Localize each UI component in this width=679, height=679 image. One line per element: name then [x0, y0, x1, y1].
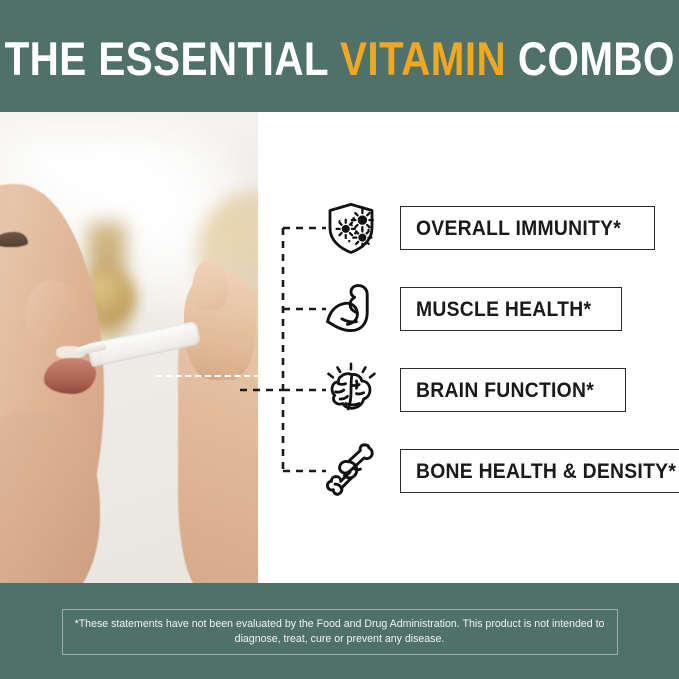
benefit-row-bone-health-density[interactable]: BONE HEALTH & DENSITY* — [320, 439, 679, 503]
footer-banner: *These statements have not been evaluate… — [0, 583, 679, 679]
benefit-label-muscle-health: MUSCLE HEALTH* — [416, 299, 591, 320]
benefit-label-bone-health-density: BONE HEALTH & DENSITY* — [416, 461, 676, 482]
benefit-label-overall-immunity: OVERALL IMMUNITY* — [416, 218, 621, 239]
flexed-bicep-icon — [320, 278, 382, 340]
title-part-1: THE ESSENTIAL — [4, 32, 339, 85]
benefit-row-overall-immunity[interactable]: OVERALL IMMUNITY* — [320, 196, 655, 260]
benefit-label-box-muscle-health: MUSCLE HEALTH* — [400, 287, 622, 331]
page-title: THE ESSENTIAL VITAMIN COMBO — [4, 35, 674, 82]
benefit-row-muscle-health[interactable]: MUSCLE HEALTH* — [320, 277, 622, 341]
disclaimer-text: *These statements have not been evaluate… — [75, 617, 605, 648]
benefit-row-brain-function[interactable]: BRAIN FUNCTION* — [320, 358, 626, 422]
title-accent-vitamin: VITAMIN — [340, 32, 506, 85]
benefit-label-box-brain-function: BRAIN FUNCTION* — [400, 368, 626, 412]
infographic-root: THE ESSENTIAL VITAMIN COMBO — [0, 0, 679, 679]
title-part-2: COMBO — [506, 32, 675, 85]
header-banner: THE ESSENTIAL VITAMIN COMBO — [0, 0, 679, 112]
benefits-list: OVERALL IMMUNITY* MUSCLE HEALTH* — [0, 112, 679, 583]
bone-joint-icon — [320, 440, 382, 502]
benefit-label-brain-function: BRAIN FUNCTION* — [416, 380, 594, 401]
benefit-label-box-bone-health-density: BONE HEALTH & DENSITY* — [400, 449, 679, 493]
disclaimer-box: *These statements have not been evaluate… — [62, 609, 618, 656]
shield-virus-icon — [320, 197, 382, 259]
brain-icon — [320, 359, 382, 421]
benefit-label-box-overall-immunity: OVERALL IMMUNITY* — [400, 206, 655, 250]
content-panel: OVERALL IMMUNITY* MUSCLE HEALTH* — [0, 112, 679, 583]
